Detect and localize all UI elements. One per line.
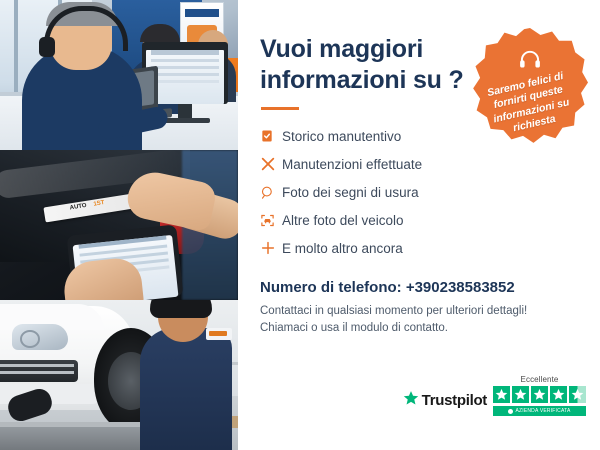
- check-icon: [508, 409, 513, 414]
- feature-item-altro: E molto altro ancora: [260, 235, 510, 261]
- feature-item-altre-foto: Altre foto del veicolo: [260, 207, 510, 233]
- headlight: [12, 324, 68, 350]
- call-center-photo: [0, 0, 238, 150]
- car-grille: [0, 360, 78, 382]
- trustpilot-widget[interactable]: Trustpilot Eccellente: [403, 375, 586, 416]
- magnifier-icon: [260, 185, 282, 200]
- car-inspection-photo: [0, 150, 238, 300]
- star-rating: [493, 386, 586, 403]
- feature-label: Foto dei segni di usura: [282, 185, 419, 200]
- photo-column: [0, 0, 238, 450]
- feature-label: Altre foto del veicolo: [282, 213, 404, 228]
- rating-label: Eccellente: [493, 375, 586, 384]
- headline-line-1: Vuoi maggiori: [260, 35, 423, 63]
- feature-item-manutenzioni: Manutenzioni effettuate: [260, 151, 510, 177]
- star-icon: [531, 386, 548, 403]
- trustpilot-wordmark: Trustpilot: [422, 392, 487, 409]
- star-icon-half: [569, 386, 586, 403]
- verified-label: AZIENDA VERIFICATA: [515, 408, 570, 414]
- feature-label: Manutenzioni effettuate: [282, 157, 422, 172]
- content-panel: Vuoi maggiori informazioni su ? Saremo f…: [238, 0, 600, 450]
- callout-badge: Saremo felici di fornirti queste informa…: [472, 28, 588, 144]
- headset-icon: [519, 50, 541, 68]
- feature-label: Storico manutentivo: [282, 129, 401, 144]
- star-icon: [512, 386, 529, 403]
- trustpilot-logo: Trustpilot: [403, 390, 487, 416]
- contact-line-2: Chiamaci o usa il modulo di contatto.: [260, 322, 448, 334]
- mechanic-wheel-photo: [0, 300, 238, 450]
- contact-line-1: Contattaci in qualsiasi momento per ulte…: [260, 305, 527, 317]
- promo-banner: Vuoi maggiori informazioni su ? Saremo f…: [0, 0, 600, 450]
- phone-number-title: Numero di telefono: +390238583852: [260, 279, 580, 296]
- monitor-base: [162, 118, 210, 123]
- contact-description: Contattaci in qualsiasi momento per ulte…: [260, 303, 580, 338]
- trustpilot-star-icon: [403, 390, 419, 411]
- verified-badge: AZIENDA VERIFICATA: [493, 406, 586, 416]
- star-icon: [493, 386, 510, 403]
- uniform-logo: [206, 328, 232, 340]
- wrench-cross-icon: [260, 156, 282, 172]
- feature-label: E molto altro ancora: [282, 241, 403, 256]
- clipboard-check-icon: [260, 129, 282, 143]
- headline-line-2: informazioni su ?: [260, 66, 464, 94]
- trustpilot-rating: Eccellente: [493, 375, 586, 416]
- feature-item-foto-usura: Foto dei segni di usura: [260, 179, 510, 205]
- mechanic-figure: [140, 328, 232, 450]
- plus-icon: [260, 240, 282, 256]
- car-scan-icon: [260, 213, 282, 228]
- page-title: Vuoi maggiori informazioni su ?: [260, 34, 475, 95]
- title-divider: [261, 107, 299, 110]
- star-icon: [550, 386, 567, 403]
